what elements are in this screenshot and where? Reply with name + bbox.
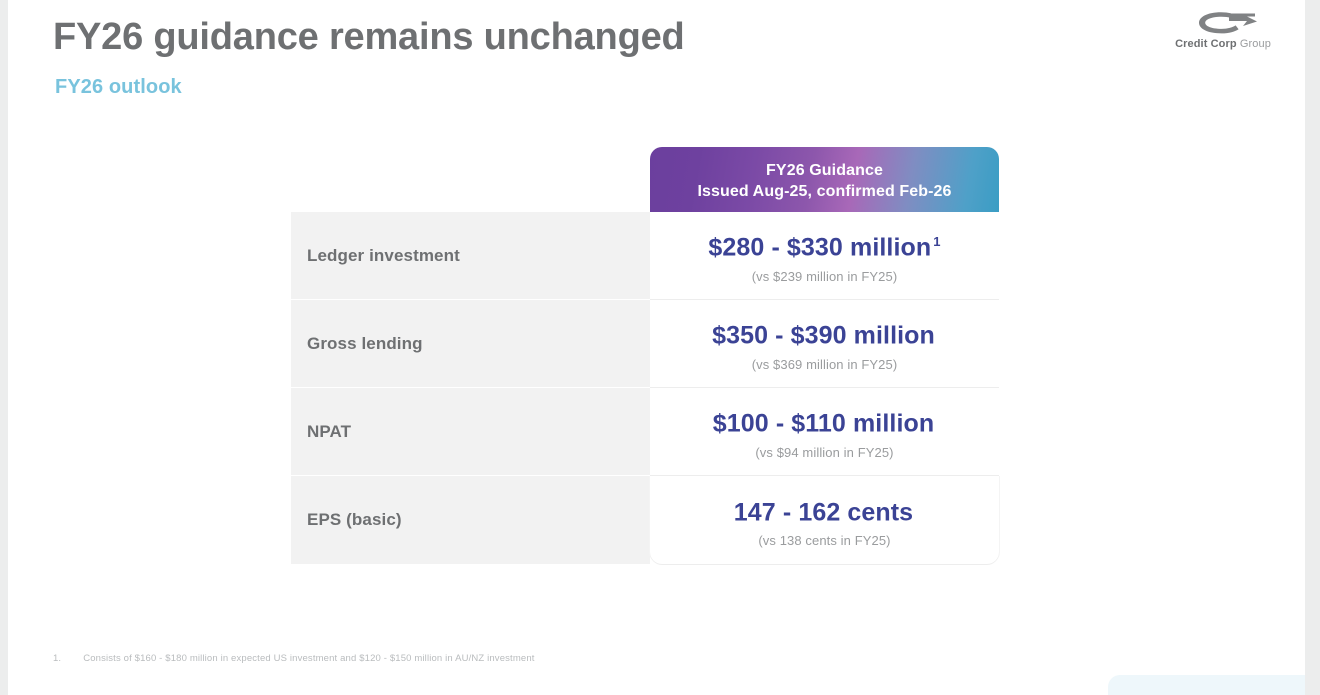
page-title: FY26 guidance remains unchanged (53, 16, 685, 59)
logo-wordmark: Credit Corp Group (1163, 38, 1283, 50)
metric-label-cell: NPAT (291, 388, 650, 476)
metric-label-cell: Gross lending (291, 300, 650, 388)
metric-value-text: $350 - $390 million (712, 322, 935, 350)
presentation-slide: FY26 guidance remains unchanged FY26 out… (8, 0, 1305, 695)
metric-value: $280 - $330 million1 (708, 227, 940, 262)
table-row: NPAT $100 - $110 million (vs $94 million… (291, 388, 999, 476)
guidance-table-header: FY26 Guidance Issued Aug-25, confirmed F… (650, 147, 999, 215)
metric-value: $100 - $110 million (713, 403, 936, 438)
metric-value: 147 - 162 cents (734, 492, 915, 527)
table-row: EPS (basic) 147 - 162 cents (vs 138 cent… (291, 476, 999, 564)
slide-viewer: FY26 guidance remains unchanged FY26 out… (0, 0, 1320, 695)
logo-name-bold: Credit Corp (1175, 38, 1237, 50)
metric-label: Gross lending (307, 334, 423, 354)
credit-corp-swoosh-icon (1185, 10, 1261, 36)
company-logo: Credit Corp Group (1163, 10, 1283, 50)
metric-comparison: (vs 138 cents in FY25) (758, 533, 890, 548)
metric-label-cell: Ledger investment (291, 212, 650, 300)
metric-value-text: $280 - $330 million (708, 234, 931, 262)
logo-name-light: Group (1237, 38, 1271, 50)
guidance-table-body: Ledger investment $280 - $330 million1 (… (291, 212, 999, 564)
metric-label-cell: EPS (basic) (291, 476, 650, 564)
metric-label: Ledger investment (307, 246, 460, 266)
viewer-left-gutter (0, 0, 8, 695)
metric-comparison: (vs $239 million in FY25) (752, 269, 898, 284)
metric-label: NPAT (307, 422, 351, 442)
metric-value-cell: $280 - $330 million1 (vs $239 million in… (650, 212, 999, 300)
footnote-marker: 1 (933, 234, 940, 249)
guidance-header-line-1: FY26 Guidance (766, 160, 883, 181)
table-row: Gross lending $350 - $390 million (vs $3… (291, 300, 999, 388)
metric-value-cell: $350 - $390 million (vs $369 million in … (650, 300, 999, 388)
metric-value-text: $100 - $110 million (713, 410, 934, 438)
viewer-right-gutter (1305, 0, 1320, 695)
metric-value-cell: 147 - 162 cents (vs 138 cents in FY25) (650, 476, 999, 564)
footnote-text: Consists of $160 - $180 million in expec… (83, 653, 534, 664)
metric-label: EPS (basic) (307, 510, 402, 530)
footnote: 1. Consists of $160 - $180 million in ex… (53, 653, 535, 664)
page-subtitle: FY26 outlook (55, 76, 182, 99)
table-row: Ledger investment $280 - $330 million1 (… (291, 212, 999, 300)
metric-value-cell: $100 - $110 million (vs $94 million in F… (650, 388, 999, 476)
metric-comparison: (vs $94 million in FY25) (755, 445, 893, 460)
metric-value: $350 - $390 million (712, 315, 937, 350)
bottom-floating-panel[interactable] (1108, 675, 1305, 695)
metric-value-text: 147 - 162 cents (734, 498, 913, 526)
metric-comparison: (vs $369 million in FY25) (752, 357, 898, 372)
guidance-header-line-2: Issued Aug-25, confirmed Feb-26 (697, 181, 951, 202)
footnote-number: 1. (53, 653, 61, 664)
